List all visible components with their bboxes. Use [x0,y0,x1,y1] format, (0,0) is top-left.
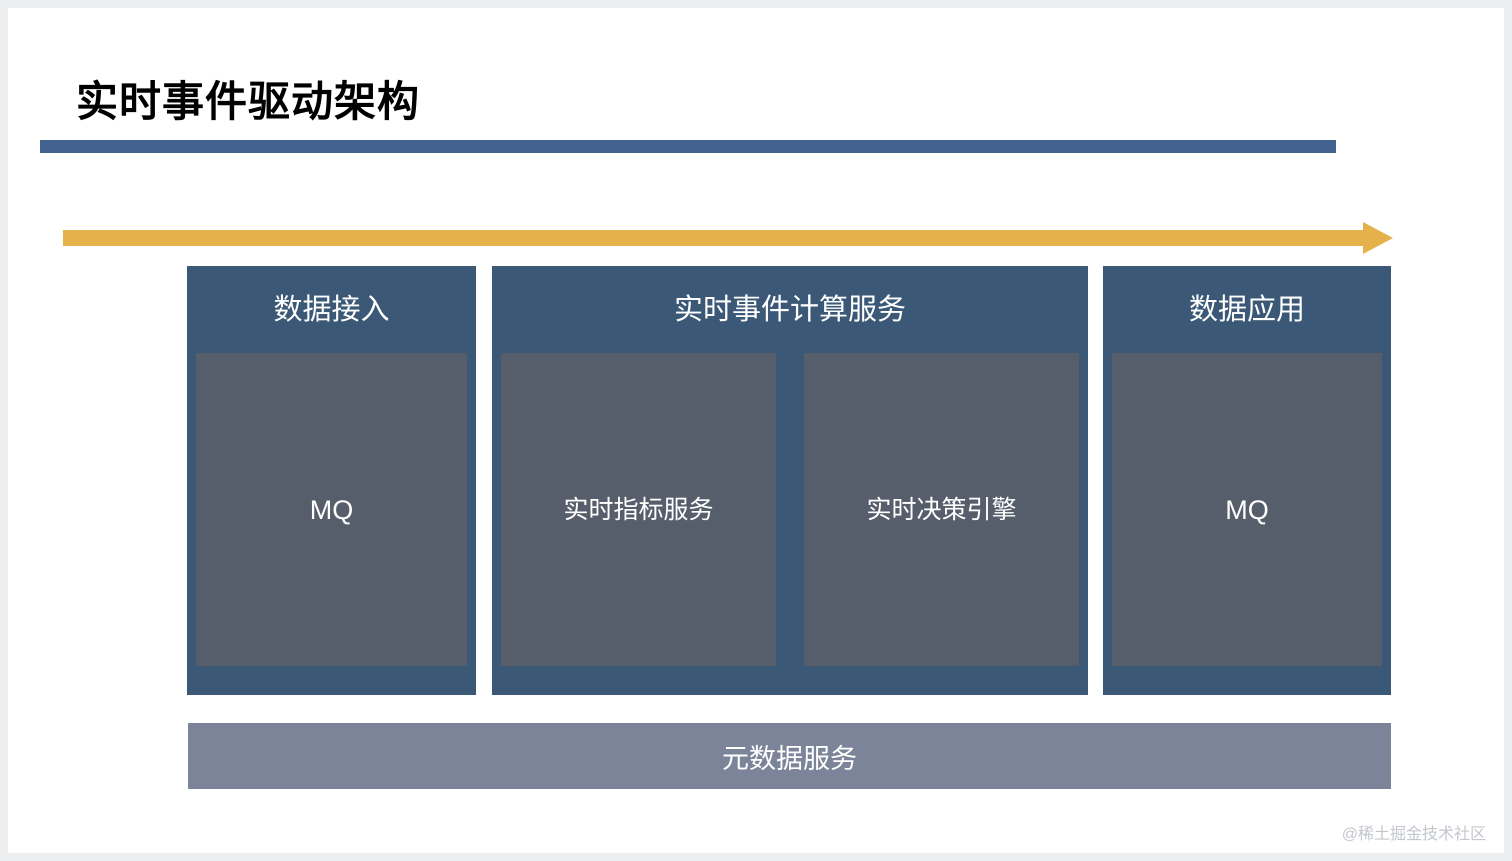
stage-title-data-ingest: 数据接入 [187,292,476,328]
stage-data-ingest[interactable]: 数据接入 MQ [187,266,476,695]
foundation-metadata-service[interactable]: 元数据服务 [188,723,1391,789]
stage-title-realtime-event-compute: 实时事件计算服务 [492,292,1088,328]
component-row-realtime-event-compute: 实时指标服务 实时决策引擎 [501,353,1079,666]
component-row-data-application: MQ [1112,353,1382,666]
stage-realtime-event-compute[interactable]: 实时事件计算服务 实时指标服务 实时决策引擎 [492,266,1088,695]
title-block: 实时事件驱动架构 [40,74,1336,153]
title-underline-bar [40,140,1336,153]
watermark: @稀土掘金技术社区 [1342,820,1486,844]
stage-data-application[interactable]: 数据应用 MQ [1103,266,1391,695]
slide-canvas: 实时事件驱动架构 数据接入 MQ 实时事件计算服务 实时指标服务 实时决策引擎 … [8,8,1504,853]
component-realtime-decision-engine[interactable]: 实时决策引擎 [804,353,1079,666]
component-mq-ingest[interactable]: MQ [196,353,467,666]
component-realtime-metrics-service[interactable]: 实时指标服务 [501,353,776,666]
flow-arrow-right-icon [63,220,1393,256]
component-row-data-ingest: MQ [196,353,467,666]
stage-title-data-application: 数据应用 [1103,292,1391,328]
page-title: 实时事件驱动架构 [76,74,1336,130]
component-mq-application[interactable]: MQ [1112,353,1382,666]
